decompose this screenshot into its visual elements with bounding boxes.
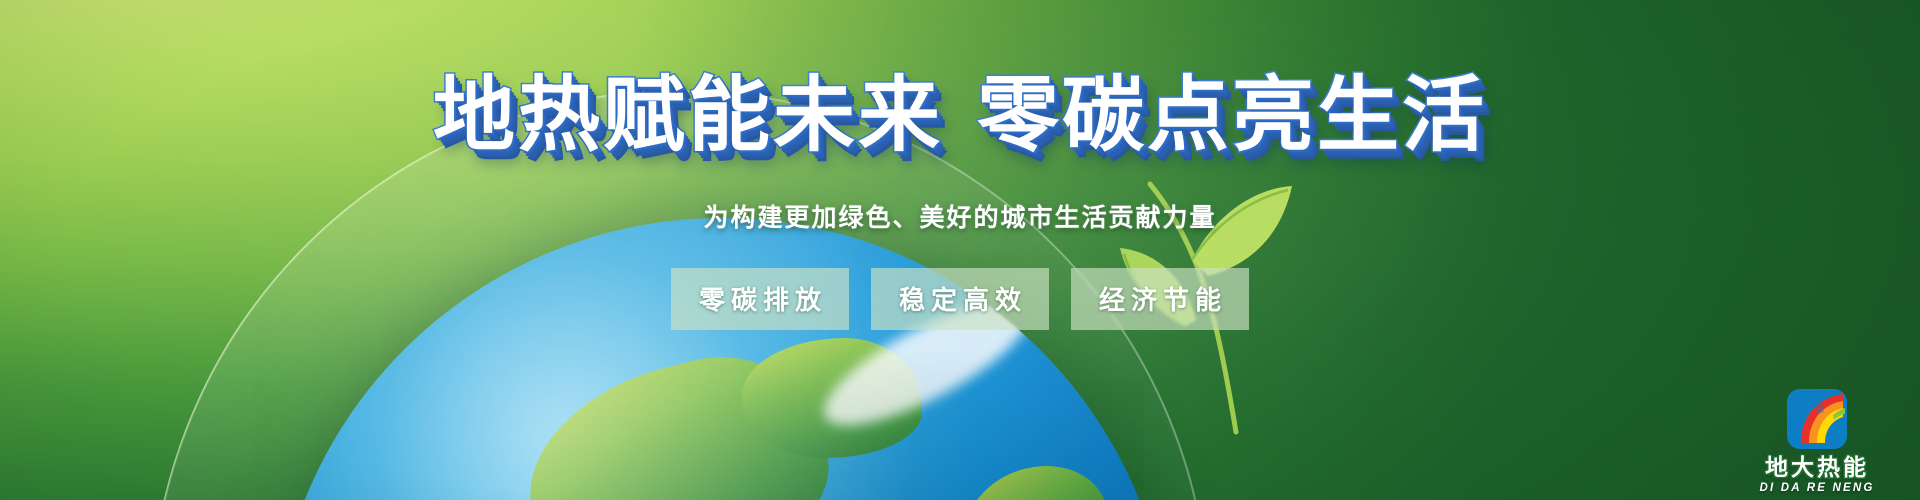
feature-tag-zero-carbon[interactable]: 零碳排放 — [671, 268, 849, 330]
feature-tag-economic-saving[interactable]: 经济节能 — [1071, 268, 1249, 330]
banner-headline: 地热赋能未来零碳点亮生活 — [0, 48, 1920, 167]
feature-tag-list: 零碳排放 稳定高效 经济节能 — [0, 268, 1920, 330]
company-logo[interactable]: 地大热能 DI DA RE NENG — [1742, 387, 1892, 495]
hero-banner: 地热赋能未来零碳点亮生活 为构建更加绿色、美好的城市生活贡献力量 零碳排放 稳定… — [0, 0, 1920, 500]
banner-subtitle: 为构建更加绿色、美好的城市生活贡献力量 — [0, 198, 1920, 234]
feature-tag-stable-efficient[interactable]: 稳定高效 — [871, 268, 1049, 330]
logo-name-cn: 地大热能 — [1742, 456, 1892, 479]
banner-content: 地热赋能未来零碳点亮生活 为构建更加绿色、美好的城市生活贡献力量 零碳排放 稳定… — [0, 0, 1920, 500]
headline-part1: 地热赋能未来 — [433, 70, 943, 161]
didareneng-logo-mark — [1785, 387, 1849, 451]
headline-part2: 零碳点亮生活 — [977, 70, 1487, 161]
logo-name-en: DI DA RE NENG — [1742, 483, 1892, 495]
